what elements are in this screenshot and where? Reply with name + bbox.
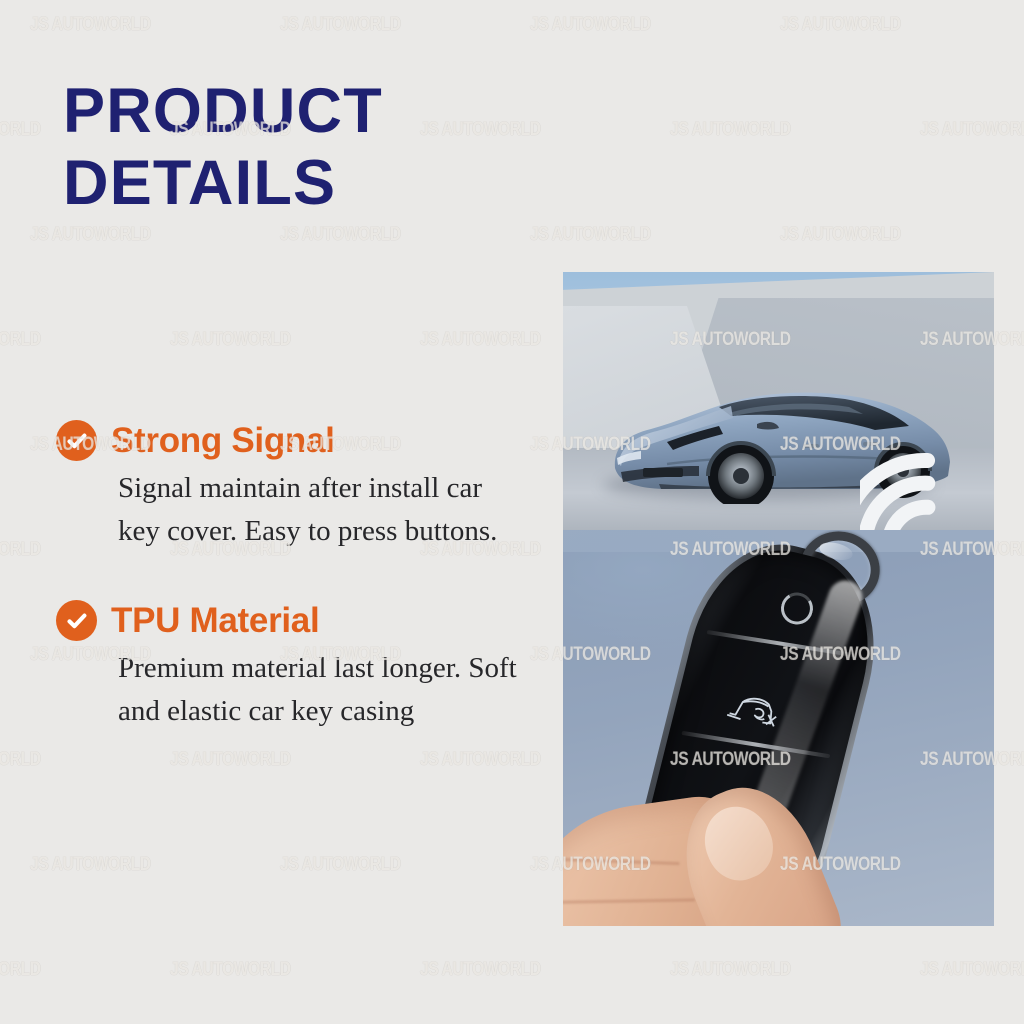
thumbnail <box>694 797 783 890</box>
hand-holding-key <box>563 734 873 926</box>
watermark-row: JS AUTOWORLDJS AUTOWORLDJS AUTOWORLDJS A… <box>30 224 1024 246</box>
feature-list: Strong Signal Signal maintain after inst… <box>56 420 526 781</box>
watermark-text: JS AUTOWORLD <box>780 14 985 36</box>
watermark-row: JS AUTOWORLDJS AUTOWORLDJS AUTOWORLDJS A… <box>0 959 1024 981</box>
product-details-graphic: PRODUCT DETAILS Strong Signal Signal mai… <box>0 0 1024 1024</box>
page-title: PRODUCT DETAILS <box>63 76 383 220</box>
watermark-text: JS AUTOWORLD <box>170 329 375 351</box>
watermark-text: JS AUTOWORLD <box>920 959 1024 981</box>
feature-heading-row: Strong Signal <box>56 420 526 461</box>
wifi-signal-icon <box>860 448 990 530</box>
check-circle-icon <box>56 600 97 641</box>
watermark-text: JS AUTOWORLD <box>280 14 485 36</box>
check-circle-icon <box>56 420 97 461</box>
watermark-text: JS AUTOWORLD <box>280 854 485 876</box>
watermark-text: JS AUTOWORLD <box>420 119 625 141</box>
page-title-line-1: PRODUCT <box>63 76 383 148</box>
feature-title: TPU Material <box>111 601 319 641</box>
watermark-text: JS AUTOWORLD <box>30 14 235 36</box>
feature-item-tpu-material: TPU Material Premium material last longe… <box>56 600 526 732</box>
watermark-text: JS AUTOWORLD <box>420 959 625 981</box>
product-photo-panel <box>563 272 994 926</box>
feature-description: Signal maintain after install car key co… <box>118 467 526 552</box>
finger-crease <box>563 858 680 865</box>
watermark-text: JS AUTOWORLD <box>920 119 1024 141</box>
watermark-row: JS AUTOWORLDJS AUTOWORLDJS AUTOWORLDJS A… <box>30 14 1024 36</box>
key-fob-in-hand-photo <box>563 530 994 926</box>
watermark-text: JS AUTOWORLD <box>30 224 235 246</box>
watermark-text: JS AUTOWORLD <box>0 959 125 981</box>
car-studio-photo <box>563 272 994 530</box>
watermark-text: JS AUTOWORLD <box>780 224 985 246</box>
watermark-text: JS AUTOWORLD <box>30 854 235 876</box>
watermark-text: JS AUTOWORLD <box>670 959 875 981</box>
feature-title: Strong Signal <box>111 421 335 461</box>
watermark-text: JS AUTOWORLD <box>280 224 485 246</box>
finger-crease <box>563 898 695 903</box>
car-door-handle-front <box>803 444 819 448</box>
feature-item-strong-signal: Strong Signal Signal maintain after inst… <box>56 420 526 552</box>
watermark-text: JS AUTOWORLD <box>670 119 875 141</box>
feature-description: Premium material last longer. Soft and e… <box>118 647 526 732</box>
watermark-text: JS AUTOWORLD <box>530 224 735 246</box>
watermark-text: JS AUTOWORLD <box>530 14 735 36</box>
car-license-plate <box>643 468 683 477</box>
car-door-handle-rear <box>863 442 878 446</box>
page-title-line-2: DETAILS <box>63 148 383 220</box>
feature-heading-row: TPU Material <box>56 600 526 641</box>
watermark-text: JS AUTOWORLD <box>170 959 375 981</box>
watermark-text: JS AUTOWORLD <box>0 329 125 351</box>
